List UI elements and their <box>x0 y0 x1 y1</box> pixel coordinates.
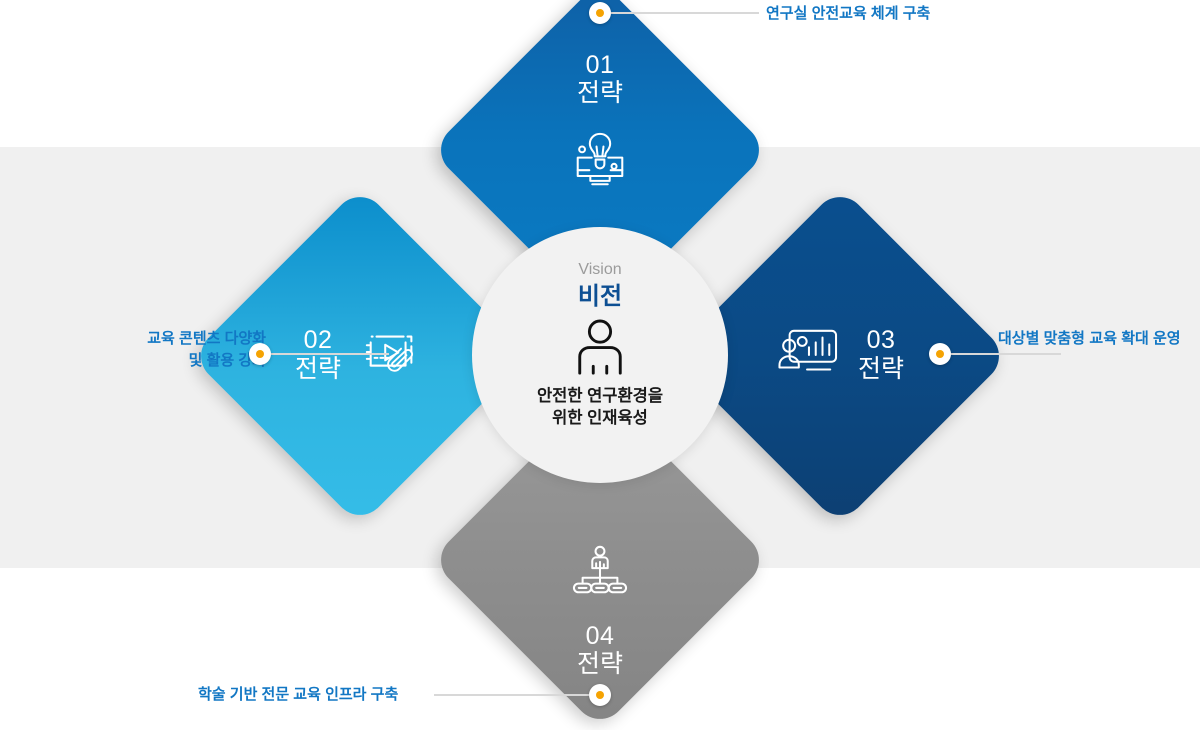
caption-left-line1: 교육 콘텐츠 다양화 <box>147 330 266 347</box>
vision-circle: Vision 비전 안전한 연구환경을 위한 인재육성 <box>472 227 728 483</box>
caption-left: 교육 콘텐츠 다양화 및 활용 강화 <box>84 328 266 372</box>
strategy-card-03[interactable]: 03 전략 <box>720 236 960 476</box>
vision-label-ko: 비전 <box>578 283 622 312</box>
connector-dot-left[interactable] <box>249 343 271 365</box>
connector-line-top <box>611 12 759 14</box>
connector-dot-bottom[interactable] <box>589 684 611 706</box>
connector-line-bottom <box>434 694 589 696</box>
vision-label-en: Vision <box>578 261 621 279</box>
connector-dot-top[interactable] <box>589 2 611 24</box>
connector-line-left <box>271 353 389 355</box>
caption-bottom-text: 학술 기반 전문 교육 인프라 구축 <box>198 686 398 703</box>
caption-right: 대상별 맞춤형 교육 확대 운영 <box>998 328 1188 350</box>
strategy-card-02[interactable]: 02 전략 <box>240 236 480 476</box>
connector-line-right <box>951 353 1061 355</box>
vision-description: 안전한 연구환경을 위한 인재육성 <box>537 386 663 430</box>
vision-description-line2: 위한 인재육성 <box>552 409 648 427</box>
connector-dot-right[interactable] <box>929 343 951 365</box>
person-icon <box>573 319 627 382</box>
caption-right-line1: 대상별 맞춤형 <box>998 330 1085 347</box>
caption-bottom: 학술 기반 전문 교육 인프라 구축 <box>198 684 398 706</box>
caption-right-line2: 교육 확대 운영 <box>1089 330 1180 347</box>
caption-top: 연구실 안전교육 체계 구축 <box>766 3 930 25</box>
strategy-diagram: 01 전략 02 <box>0 0 1200 708</box>
caption-top-text: 연구실 안전교육 체계 구축 <box>766 5 930 22</box>
vision-description-line1: 안전한 연구환경을 <box>537 387 663 405</box>
